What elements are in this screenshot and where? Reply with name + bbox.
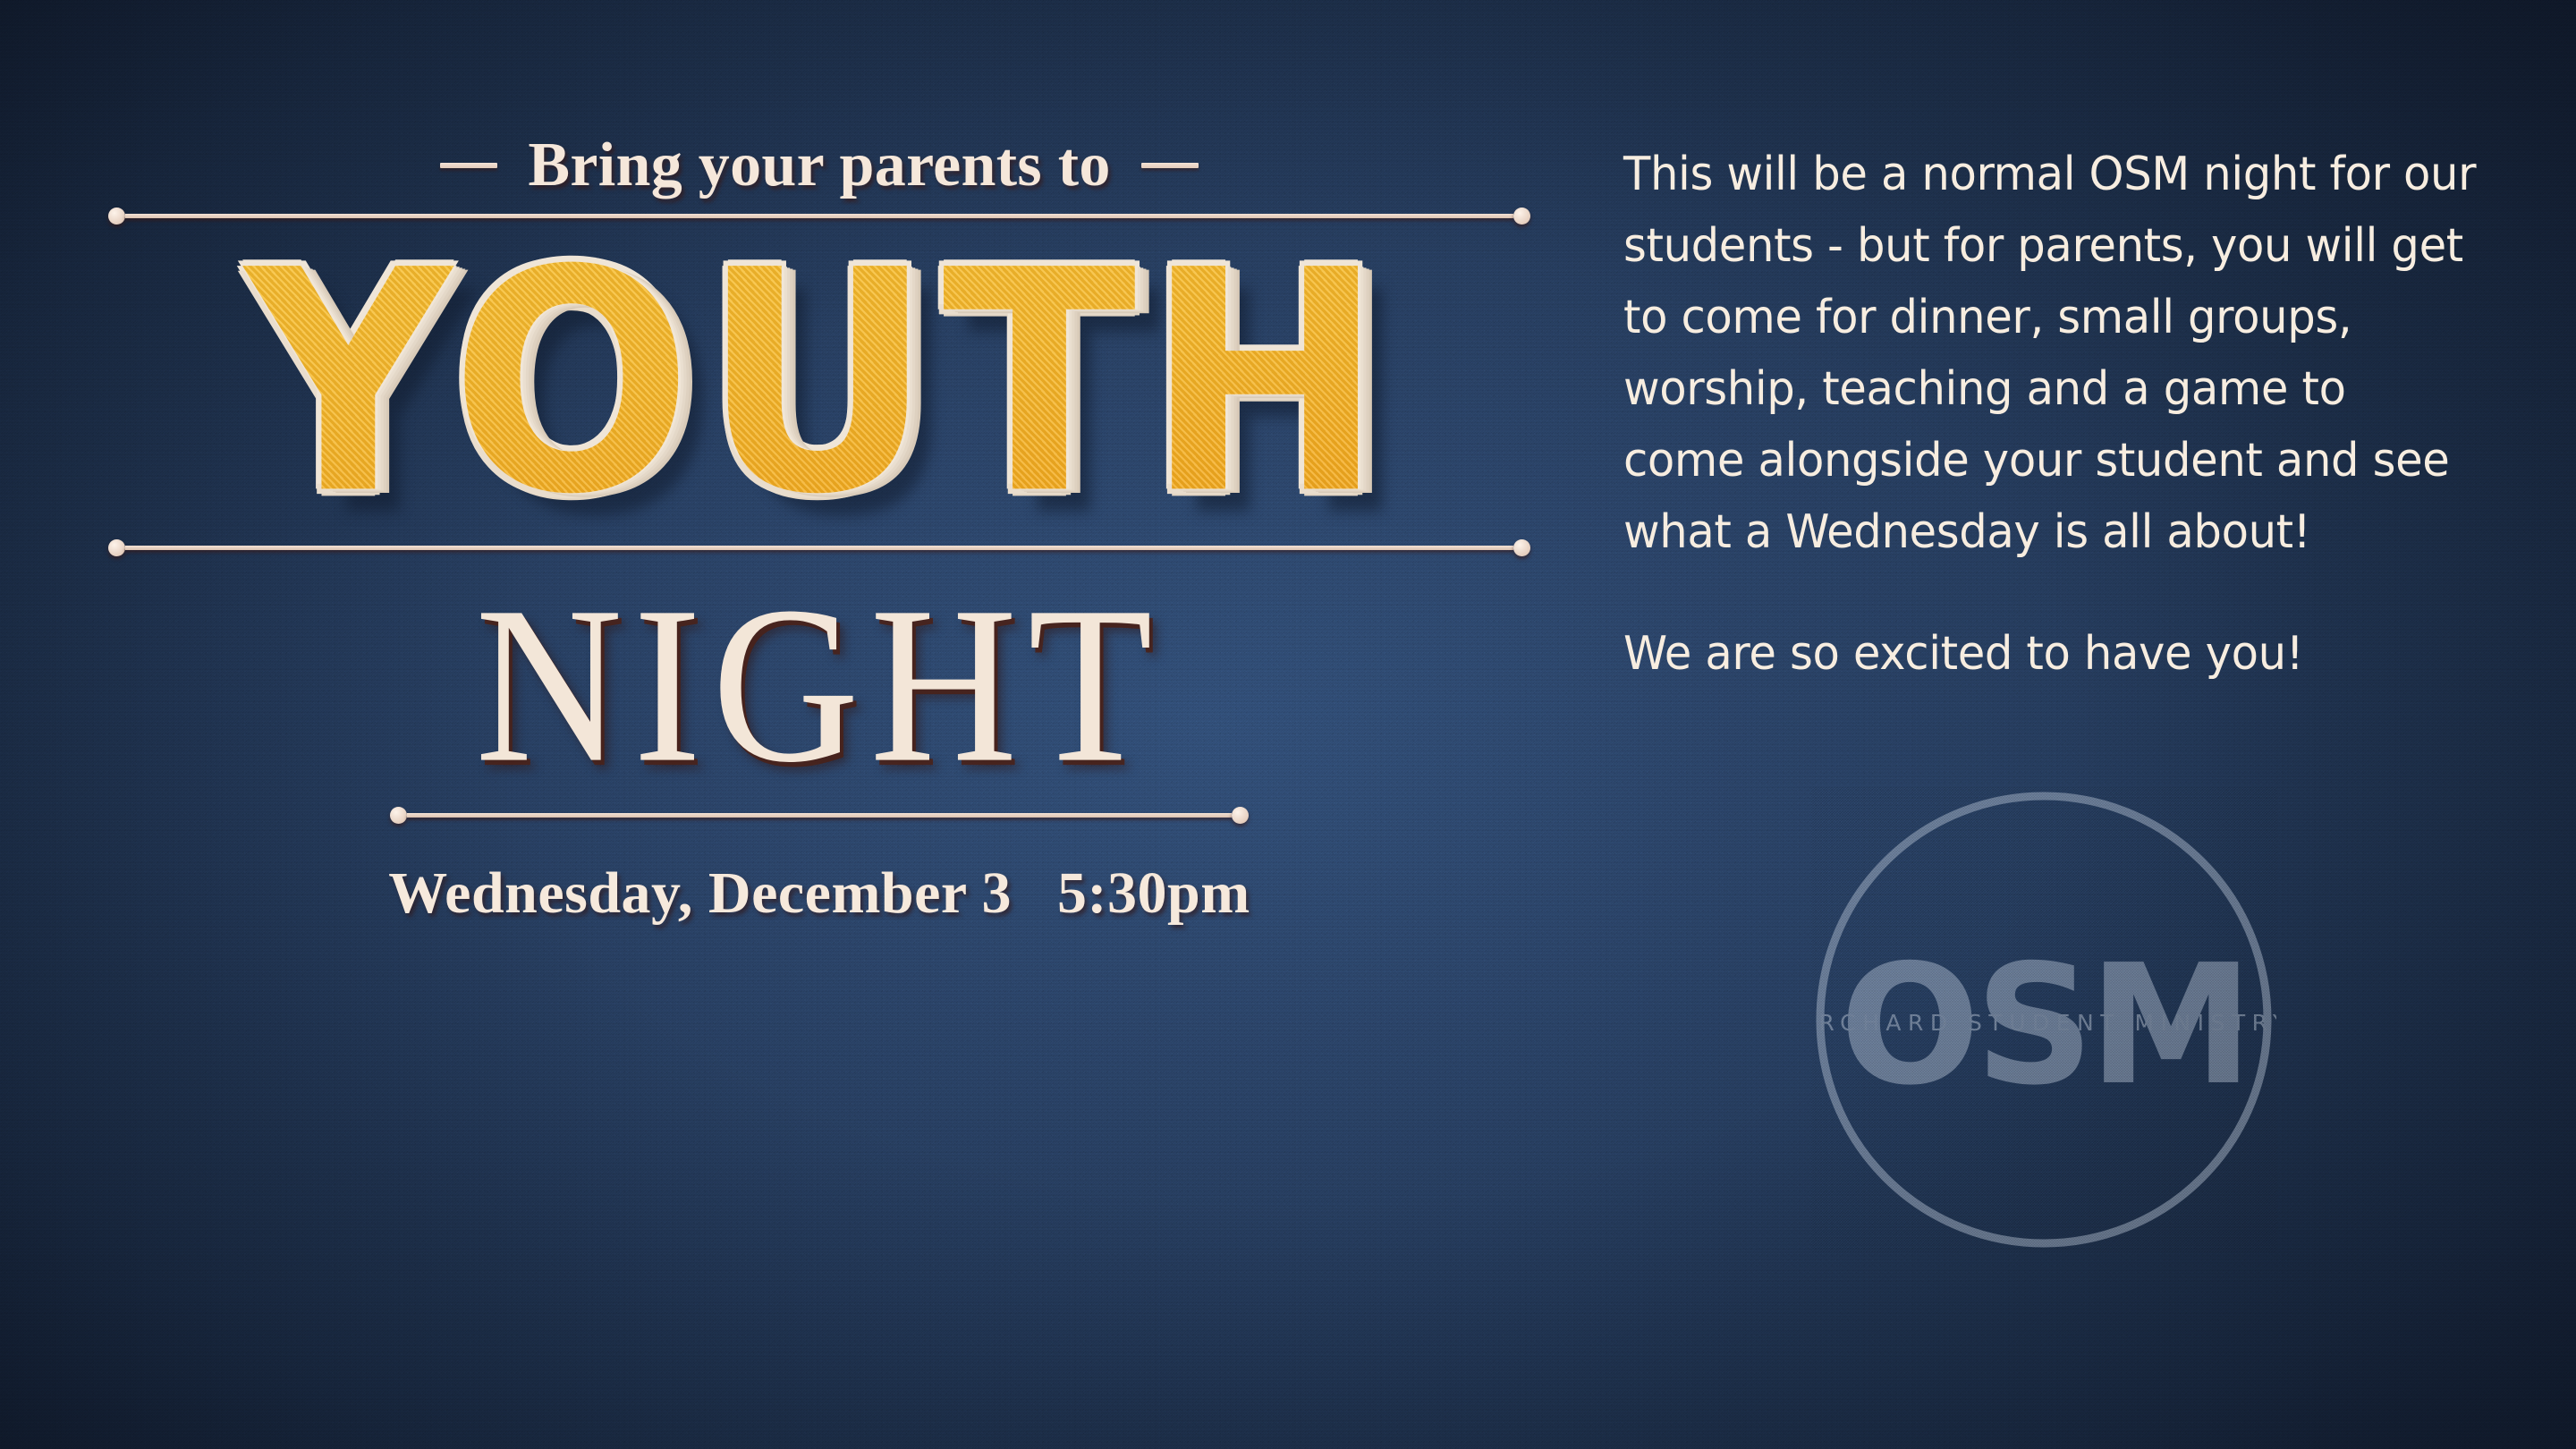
logo-tagline: ORCHARD STUDENT MINISTRY bbox=[1811, 1010, 2276, 1036]
kicker-row: Bring your parents to bbox=[86, 134, 1553, 197]
youth-wordmark: YOUTH YOUTH YOUTH YOUTH bbox=[86, 250, 1553, 527]
event-date-time: Wednesday, December 3 5:30pm bbox=[86, 860, 1553, 928]
osm-logo-watermark: OSM ORCHARD STUDENT MINISTRY bbox=[1811, 787, 2276, 1252]
divider-rule-bottom bbox=[390, 812, 1249, 818]
description-paragraph-1: This will be a normal OSM night for our … bbox=[1623, 139, 2478, 568]
dash-right-icon bbox=[1141, 163, 1199, 168]
rule-ball-right-icon bbox=[1513, 208, 1530, 225]
event-description: This will be a normal OSM night for our … bbox=[1623, 139, 2518, 690]
kicker-text: Bring your parents to bbox=[528, 134, 1110, 197]
flyer-canvas: Bring your parents to YOUTH YOUTH YOUTH … bbox=[0, 0, 2576, 1449]
night-wordmark: NIGHT bbox=[86, 577, 1553, 793]
title-lockup: Bring your parents to YOUTH YOUTH YOUTH … bbox=[86, 134, 1553, 928]
rule-ball-left-icon bbox=[108, 208, 125, 225]
rule-ball-right-icon bbox=[1232, 807, 1249, 824]
rule-line bbox=[407, 813, 1232, 818]
dash-left-icon bbox=[440, 163, 497, 168]
description-paragraph-2: We are so excited to have you! bbox=[1623, 618, 2478, 690]
youth-weave-texture: YOUTH bbox=[42, 231, 1597, 537]
rule-ball-left-icon bbox=[390, 807, 407, 824]
